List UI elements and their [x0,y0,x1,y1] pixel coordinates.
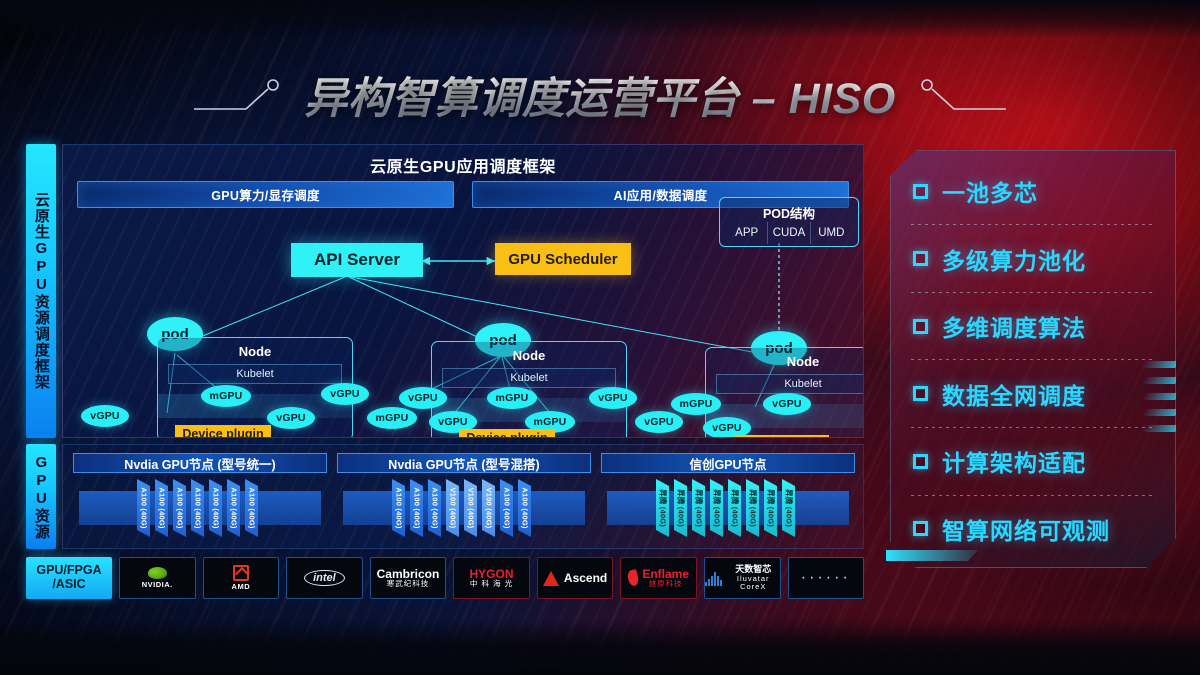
ascend-triangle-icon [543,571,559,586]
gpu-resource-panel: Nvdia GPU节点 (型号统一) A100 (40G) A100 (40G)… [62,444,864,549]
feature-item-4[interactable]: 数据全网调度 [891,372,1175,416]
square-bullet-icon [913,251,928,266]
gpu-card[interactable]: A100 (40G) [137,479,150,537]
slide-header: 异构智算调度运营平台 – HISO [0,62,1200,128]
feature-item-6[interactable]: 智算网络可观测 [891,507,1175,551]
vendor-category-line-1: GPU/FPGA [36,564,101,578]
vendor-logo-cambricon[interactable]: Cambricon 寒武纪科技 [370,557,447,599]
gpu-card-label: 昇腾 (40G) [711,489,722,527]
sidebar-tab-framework: 云原生GPU资源调度框架 [26,144,56,438]
node-3-vgpu-2[interactable]: vGPU [763,393,811,415]
gpu-group-1-cards: A100 (40G) A100 (40G) A100 (40G) A100 (4… [73,479,327,539]
panel-stripe-deco [1143,361,1177,481]
feature-separator [911,359,1155,360]
slide-canvas: 异构智算调度运营平台 – HISO 云原生GPU资源调度框架 GPU资源 云原生… [0,0,1200,675]
gpu-card-label: V100 (40G) [448,488,457,529]
pod-structure-cells: APP CUDA UMD [726,222,852,244]
node-2-vgpu-3[interactable]: vGPU [589,387,637,409]
gpu-card[interactable]: 昇腾 (40G) [728,479,741,537]
sidebar-tab-gpu-resource-label: GPU资源 [33,454,49,540]
sidebar-tab-framework-label: 云原生GPU资源调度框架 [33,192,49,390]
vendor-logo-nvidia[interactable]: NVIDIA. [119,557,196,599]
gpu-card[interactable]: A100 (40G) [410,479,423,537]
node-3-kubelet: Kubelet [716,374,864,394]
vendor-subname: Iluvatar CoreX [727,575,780,591]
gpu-group-2-cards: A100 (40G) A100 (40G) A100 (40G) V100 (4… [337,479,591,539]
gpu-card-label: A100 (40G) [193,487,202,528]
vendor-category-line-2: /ASIC [52,578,85,592]
feature-panel: 一池多芯 多级算力池化 多维调度算法 数据全网调度 计算架构适配 智算网络可观测 [890,150,1176,568]
vendor-logo-hygon[interactable]: HYGON 中 科 海 光 [453,557,530,599]
sidebar-tab-gpu-resource: GPU资源 [26,444,56,549]
square-bullet-icon [913,184,928,199]
gpu-scheduler-box[interactable]: GPU Scheduler [495,243,631,275]
gpu-card[interactable]: A100 (40G) [428,479,441,537]
node-2-kubelet: Kubelet [442,368,616,388]
gpu-card[interactable]: 昇腾 (40G) [782,479,795,537]
pod-cell-cuda: CUDA [768,222,810,244]
feature-label: 多维调度算法 [942,309,1086,343]
vendor-subname: 寒武纪科技 [377,580,440,588]
gpu-card[interactable]: A100 (40G) [392,479,405,537]
title-right-deco-icon [916,75,1006,115]
gpu-card-label: 昇腾 (40G) [729,489,740,527]
square-bullet-icon [913,386,928,401]
gpu-card-label: 昇腾 (40G) [747,489,758,527]
node-1-vgpu-1[interactable]: vGPU [81,405,129,427]
gpu-group-2: Nvdia GPU节点 (型号混搭) A100 (40G) A100 (40G)… [337,453,591,543]
panel-corner-accent [886,550,978,561]
gpu-group-1-caption: Nvdia GPU节点 (型号统一) [73,453,327,473]
gpu-card-label: 昇腾 (40G) [693,489,704,527]
amd-arrow-icon [233,565,249,581]
gpu-card[interactable]: 昇腾 (40G) [692,479,705,537]
gpu-card[interactable]: V100 (40G) [482,479,495,537]
vendor-logo-ascend[interactable]: Ascend [537,557,614,599]
gpu-card[interactable]: A100 (40G) [245,479,258,537]
gpu-card-label: A100 (40G) [430,487,439,528]
gpu-card-label: 昇腾 (40G) [657,489,668,527]
gpu-card[interactable]: A100 (40G) [227,479,240,537]
vendor-name: NVIDIA. [142,580,173,589]
vendor-logo-strip: GPU/FPGA /ASIC NVIDIA. AMD intel Cambric… [26,557,864,599]
vendor-logo-enflame[interactable]: Enflame 燧原科技 [620,557,697,599]
feature-item-2[interactable]: 多级算力池化 [891,237,1175,281]
square-bullet-icon [913,521,928,536]
node-1-title: Node [158,344,352,359]
node-3-device-plugin[interactable]: Device plugin [733,435,829,438]
feature-separator [911,495,1155,496]
node-2-vgpu-4[interactable]: vGPU [635,411,683,433]
gpu-card[interactable]: A100 (40G) [500,479,513,537]
title-left-deco-icon [194,75,284,115]
api-server-box[interactable]: API Server [291,243,423,277]
gpu-card-label: A100 (40G) [394,487,403,528]
gpu-card[interactable]: 昇腾 (40G) [764,479,777,537]
vendor-logo-amd[interactable]: AMD [203,557,280,599]
vendor-logo-more[interactable]: ······ [788,557,865,599]
gpu-card-label: 昇腾 (40G) [675,489,686,527]
page-title: 异构智算调度运营平台 – HISO [298,64,901,126]
gpu-card[interactable]: A100 (40G) [155,479,168,537]
pod-structure-title: POD结构 [720,203,858,222]
feature-label: 多级算力池化 [942,242,1086,276]
node-3-mgpu-1[interactable]: mGPU [671,393,721,415]
enflame-flame-icon [627,569,640,587]
gpu-group-3-caption: 信创GPU节点 [601,453,855,473]
node-2-vgpu-1[interactable]: vGPU [399,387,447,409]
vendor-name: ······ [801,569,851,587]
gpu-card[interactable]: V100 (40G) [464,479,477,537]
feature-label: 计算架构适配 [942,444,1086,478]
vendor-name: intel [304,570,345,586]
framework-panel: 云原生GPU应用调度框架 GPU算力/显存调度 AI应用/数据调度 [62,144,864,438]
gpu-card-label: A100 (40G) [157,487,166,528]
gpu-card-label: A100 (40G) [229,487,238,528]
gpu-card[interactable]: A100 (40G) [209,479,222,537]
square-bullet-icon [913,319,928,334]
vendor-subname: 中 科 海 光 [470,580,514,588]
nvidia-eye-icon [148,567,167,579]
bottom-letterbox-band [0,619,1200,675]
feature-separator [911,292,1155,293]
gpu-card-label: A100 (40G) [139,487,148,528]
node-1-vgpu-3[interactable]: vGPU [321,383,369,405]
gpu-group-3: 信创GPU节点 昇腾 (40G) 昇腾 (40G) 昇腾 (40G) 昇腾 (4… [601,453,855,543]
gpu-card-label: V100 (40G) [484,488,493,529]
gpu-card[interactable]: 昇腾 (40G) [746,479,759,537]
pod-structure-box: POD结构 APP CUDA UMD [719,197,859,247]
gpu-card-label: 昇腾 (40G) [765,489,776,527]
node-1-vgpu-2[interactable]: vGPU [267,407,315,429]
architecture-diagram: 云原生GPU资源调度框架 GPU资源 云原生GPU应用调度框架 GPU算力/显存… [26,144,864,608]
gpu-card-label: V100 (40G) [466,488,475,529]
pod-cell-app: APP [726,222,768,244]
gpu-card[interactable]: V100 (40G) [446,479,459,537]
feature-separator [911,427,1155,428]
pod-cell-umd: UMD [811,222,852,244]
feature-item-5[interactable]: 计算架构适配 [891,439,1175,483]
gpu-card-label: A100 (40G) [247,487,256,528]
gpu-card[interactable]: A100 (40G) [518,479,531,537]
square-bullet-icon [913,454,928,469]
gpu-card-label: A100 (40G) [211,487,220,528]
node-2-mgpu-1[interactable]: mGPU [487,387,537,409]
iluvatar-bars-icon [705,570,722,586]
gpu-card[interactable]: A100 (40G) [191,479,204,537]
gpu-card-label: A100 (40G) [412,487,421,528]
gpu-card[interactable]: 昇腾 (40G) [656,479,669,537]
vendor-logo-intel[interactable]: intel [286,557,363,599]
feature-label: 数据全网调度 [942,377,1086,411]
vendor-logo-iluvatar[interactable]: 天数智芯 Iluvatar CoreX [704,557,781,599]
gpu-card[interactable]: 昇腾 (40G) [674,479,687,537]
gpu-card[interactable]: A100 (40G) [173,479,186,537]
gpu-card-label: A100 (40G) [175,487,184,528]
bar-gpu-compute[interactable]: GPU算力/显存调度 [77,181,454,208]
node-1-mgpu-1[interactable]: mGPU [201,385,251,407]
vendor-name: Ascend [564,572,607,585]
gpu-card-label: A100 (40G) [502,487,511,528]
vendor-subname: 燧原科技 [642,580,689,588]
node-2-title: Node [432,348,626,363]
gpu-group-3-cards: 昇腾 (40G) 昇腾 (40G) 昇腾 (40G) 昇腾 (40G) 昇腾 (… [601,479,855,539]
vendor-name: AMD [232,582,251,591]
scheduling-flow: API Server GPU Scheduler POD结构 APP CUDA … [63,217,863,437]
node-1-device-plugin[interactable]: Device plugin [175,425,271,438]
node-2-device-plugin[interactable]: Device plugin [459,429,555,438]
feature-item-3[interactable]: 多维调度算法 [891,304,1175,348]
feature-label: 智算网络可观测 [942,512,1110,546]
feature-label: 一池多芯 [942,174,1038,208]
node-1-mgpu-2[interactable]: mGPU [367,407,417,429]
feature-separator [911,224,1155,225]
feature-item-1[interactable]: 一池多芯 [891,169,1175,213]
vendor-category-label: GPU/FPGA /ASIC [26,557,112,599]
gpu-card-label: 昇腾 (40G) [783,489,794,527]
gpu-group-2-caption: Nvdia GPU节点 (型号混搭) [337,453,591,473]
gpu-group-1: Nvdia GPU节点 (型号统一) A100 (40G) A100 (40G)… [73,453,327,543]
node-1-kubelet: Kubelet [168,364,342,384]
top-letterbox-band [0,0,1200,38]
node-3-title: Node [706,354,864,369]
gpu-card-label: A100 (40G) [520,487,529,528]
framework-title: 云原生GPU应用调度框架 [63,153,863,177]
gpu-card[interactable]: 昇腾 (40G) [710,479,723,537]
